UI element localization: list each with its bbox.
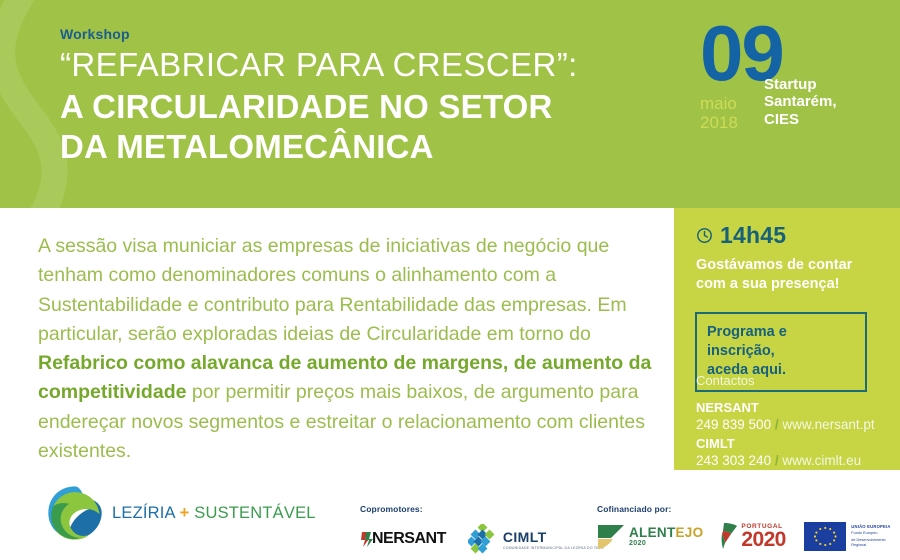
lezira-word-part-2: SUSTENTÁVEL [189, 504, 315, 522]
contact-phone: 243 303 240 [696, 453, 771, 468]
event-venue: Startup Santarém, CIES [764, 76, 837, 128]
cofinanciado-label: Cofinanciado por: [597, 504, 671, 514]
lezira-swirl-icon [46, 484, 104, 542]
contact-url[interactable]: www.cimlt.eu [782, 453, 861, 468]
lezira-sustentavel-logo: LEZÍRIA + SUSTENTÁVEL [46, 484, 316, 542]
cta-line-1: Programa e inscrição, [707, 323, 855, 361]
copromotores-logos: NERSANT CIMLT COMUNIDADE INTERMUNIC [360, 524, 604, 554]
venue-line-1: Startup [764, 76, 837, 93]
contact-name: NERSANT [696, 400, 896, 416]
venue-line-2: Santarém, [764, 93, 837, 110]
event-description: A sessão visa municiar as empresas de in… [38, 232, 658, 466]
cofinanciado-logos: ALENTEJO 2020 PORTUGAL 2020 [597, 521, 900, 551]
european-union-logo: UNIÃO EUROPEIA Fundo Europeu de Desenvol… [804, 522, 900, 551]
lezira-word-part-1: LEZÍRIA [112, 504, 180, 522]
alentejo-word-part-2: EJO [676, 525, 704, 540]
cimlt-diamond-icon [468, 524, 498, 554]
alentejo-wordmark: ALENTEJO [629, 525, 703, 540]
clock-icon [696, 227, 713, 244]
lezira-wordmark: LEZÍRIA + SUSTENTÁVEL [112, 504, 316, 523]
contact-separator: / [775, 417, 779, 432]
cimlt-logo: CIMLT COMUNIDADE INTERMUNICIPAL DA LEZÍR… [468, 524, 604, 554]
event-poster: Workshop “REFABRICAR PARA CRESCER”: A CI… [0, 0, 900, 560]
contact-separator: / [775, 453, 779, 468]
lezira-plus-symbol: + [180, 504, 190, 522]
alentejo-year: 2020 [629, 540, 703, 547]
eu-subtitle-2: de Desenvolvimento Regional [851, 538, 900, 548]
contact-phone: 249 839 500 [696, 417, 771, 432]
workshop-kicker: Workshop [60, 26, 650, 42]
contact-details: 249 839 500 / www.nersant.pt [696, 416, 896, 434]
portugal-flag-icon [721, 521, 739, 551]
contact-name: CIMLT [696, 436, 896, 452]
event-time: 14h45 [720, 222, 786, 249]
event-month: maio [700, 94, 756, 113]
poster-header: Workshop “REFABRICAR PARA CRESCER”: A CI… [0, 0, 900, 208]
alentejo-word-part-1: ALENT [629, 525, 676, 540]
description-part-1: A sessão visa municiar as empresas de in… [38, 235, 627, 345]
title-line-3: DA METALOMECÂNICA [60, 127, 650, 167]
header-text-block: Workshop “REFABRICAR PARA CRESCER”: A CI… [60, 26, 650, 166]
nersant-wordmark: NERSANT [372, 530, 446, 548]
eu-subtitle-1: Fundo Europeu [851, 531, 900, 536]
eu-logo-text: UNIÃO EUROPEIA Fundo Europeu de Desenvol… [851, 524, 900, 548]
contact-nersant: NERSANT 249 839 500 / www.nersant.pt [696, 400, 896, 434]
title-line-1: “REFABRICAR PARA CRESCER”: [60, 46, 650, 85]
contact-url[interactable]: www.nersant.pt [782, 417, 874, 432]
event-year: 2018 [700, 113, 756, 132]
info-sidebar: 14h45 Gostávamos de contar com a sua pre… [674, 208, 900, 470]
alentejo-2020-logo: ALENTEJO 2020 [597, 522, 703, 550]
alentejo-mark-icon [597, 522, 625, 550]
title-line-2: A CIRCULARIDADE NO SETOR [60, 87, 650, 127]
portugal-2020-logo: PORTUGAL 2020 [721, 521, 785, 551]
venue-line-3: CIES [764, 111, 837, 128]
eu-title: UNIÃO EUROPEIA [851, 524, 900, 529]
contact-cimlt: CIMLT 243 303 240 / www.cimlt.eu [696, 436, 896, 470]
contact-details: 243 303 240 / www.cimlt.eu [696, 452, 896, 470]
portugal-year: 2020 [741, 530, 785, 550]
event-time-row: 14h45 [696, 222, 786, 249]
invite-message: Gostávamos de contar com a sua presença! [696, 256, 876, 294]
copromotores-label: Copromotores: [360, 504, 423, 514]
cimlt-tagline: COMUNIDADE INTERMUNICIPAL DA LEZÍRIA DO … [503, 546, 604, 550]
contacts-label: Contactos [696, 373, 755, 388]
event-month-year: maio 2018 [700, 94, 756, 132]
nersant-logo: NERSANT [360, 530, 446, 548]
eu-flag-icon [804, 522, 847, 551]
cimlt-wordmark: CIMLT [503, 529, 604, 545]
event-date-block: 09 maio 2018 Startup Santarém, CIES [700, 18, 890, 193]
